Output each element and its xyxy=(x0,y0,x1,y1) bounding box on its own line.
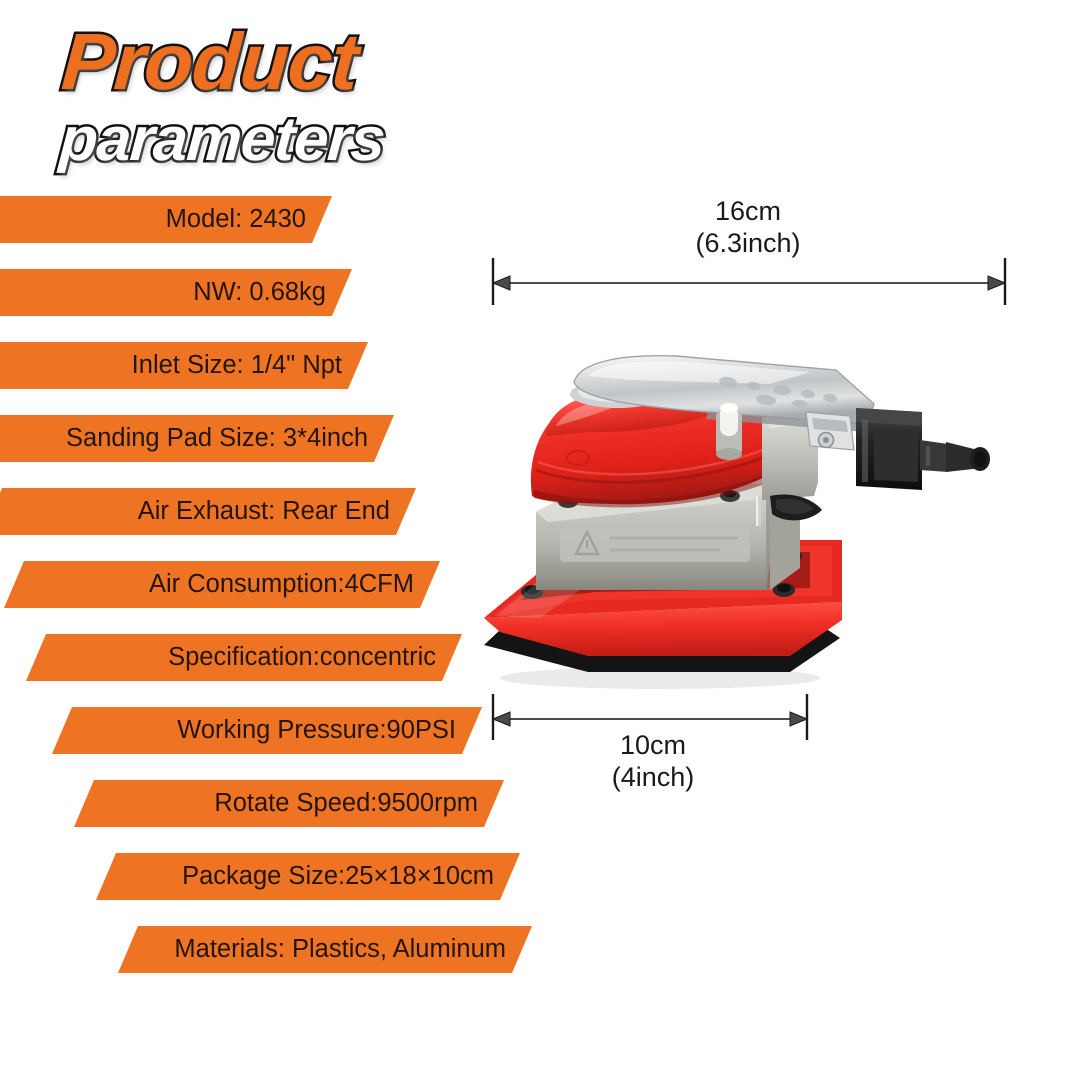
title-line-parameters: parameters xyxy=(58,104,387,175)
parameter-label-model: Model: 2430 xyxy=(166,207,332,233)
parameter-label-specification: Specification:concentric xyxy=(168,645,462,671)
speed-regulator-lever xyxy=(770,495,822,521)
dimension-depth-caption: 10cm (4inch) xyxy=(528,730,778,794)
parameter-bar-rotate-speed: Rotate Speed:9500rpm xyxy=(74,780,504,827)
parameter-bar-materials: Materials: Plastics, Aluminum xyxy=(118,926,532,973)
parameter-label-air-exhaust: Air Exhaust: Rear End xyxy=(138,499,416,525)
parameter-bar-net-weight: NW: 0.68kg xyxy=(0,269,352,316)
parameter-bar-inlet-size: Inlet Size: 1/4" Npt xyxy=(0,342,368,389)
dimension-depth-imperial: (4inch) xyxy=(528,762,778,794)
parameter-label-package-size: Package Size:25×18×10cm xyxy=(182,864,520,890)
parameter-label-air-consumption: Air Consumption:4CFM xyxy=(149,572,440,598)
parameter-bar-package-size: Package Size:25×18×10cm xyxy=(96,853,520,900)
page-title: Product parameters xyxy=(0,16,470,191)
title-line-product: Product xyxy=(59,16,361,108)
parameter-bar-air-consumption: Air Consumption:4CFM xyxy=(4,561,440,608)
parameter-label-materials: Materials: Plastics, Aluminum xyxy=(174,937,532,963)
air-inlet-coupler xyxy=(856,408,990,490)
product-image-pneumatic-orbital-sander xyxy=(470,300,1050,700)
parameter-bar-model: Model: 2430 xyxy=(0,196,332,243)
parameter-label-sanding-pad-size: Sanding Pad Size: 3*4inch xyxy=(66,426,394,452)
parameter-bar-working-pressure: Working Pressure:90PSI xyxy=(52,707,482,754)
safety-lock-catch xyxy=(806,412,854,450)
parameter-bar-sanding-pad-size: Sanding Pad Size: 3*4inch xyxy=(0,415,394,462)
parameter-label-rotate-speed: Rotate Speed:9500rpm xyxy=(214,791,504,817)
dimension-width-metric: 16cm xyxy=(598,196,898,228)
parameter-bar-air-exhaust: Air Exhaust: Rear End xyxy=(0,488,416,535)
dimension-depth-metric: 10cm xyxy=(528,730,778,762)
parameter-label-net-weight: NW: 0.68kg xyxy=(193,280,352,306)
parameter-bar-specification: Specification:concentric xyxy=(26,634,462,681)
parameter-list: Model: 2430NW: 0.68kgInlet Size: 1/4" Np… xyxy=(0,196,540,1006)
infographic-canvas: Product parameters Model: 2430NW: 0.68kg… xyxy=(0,0,1067,1067)
parameter-label-inlet-size: Inlet Size: 1/4" Npt xyxy=(132,353,368,379)
exhaust-pin xyxy=(756,496,761,526)
parameter-label-working-pressure: Working Pressure:90PSI xyxy=(177,718,482,744)
